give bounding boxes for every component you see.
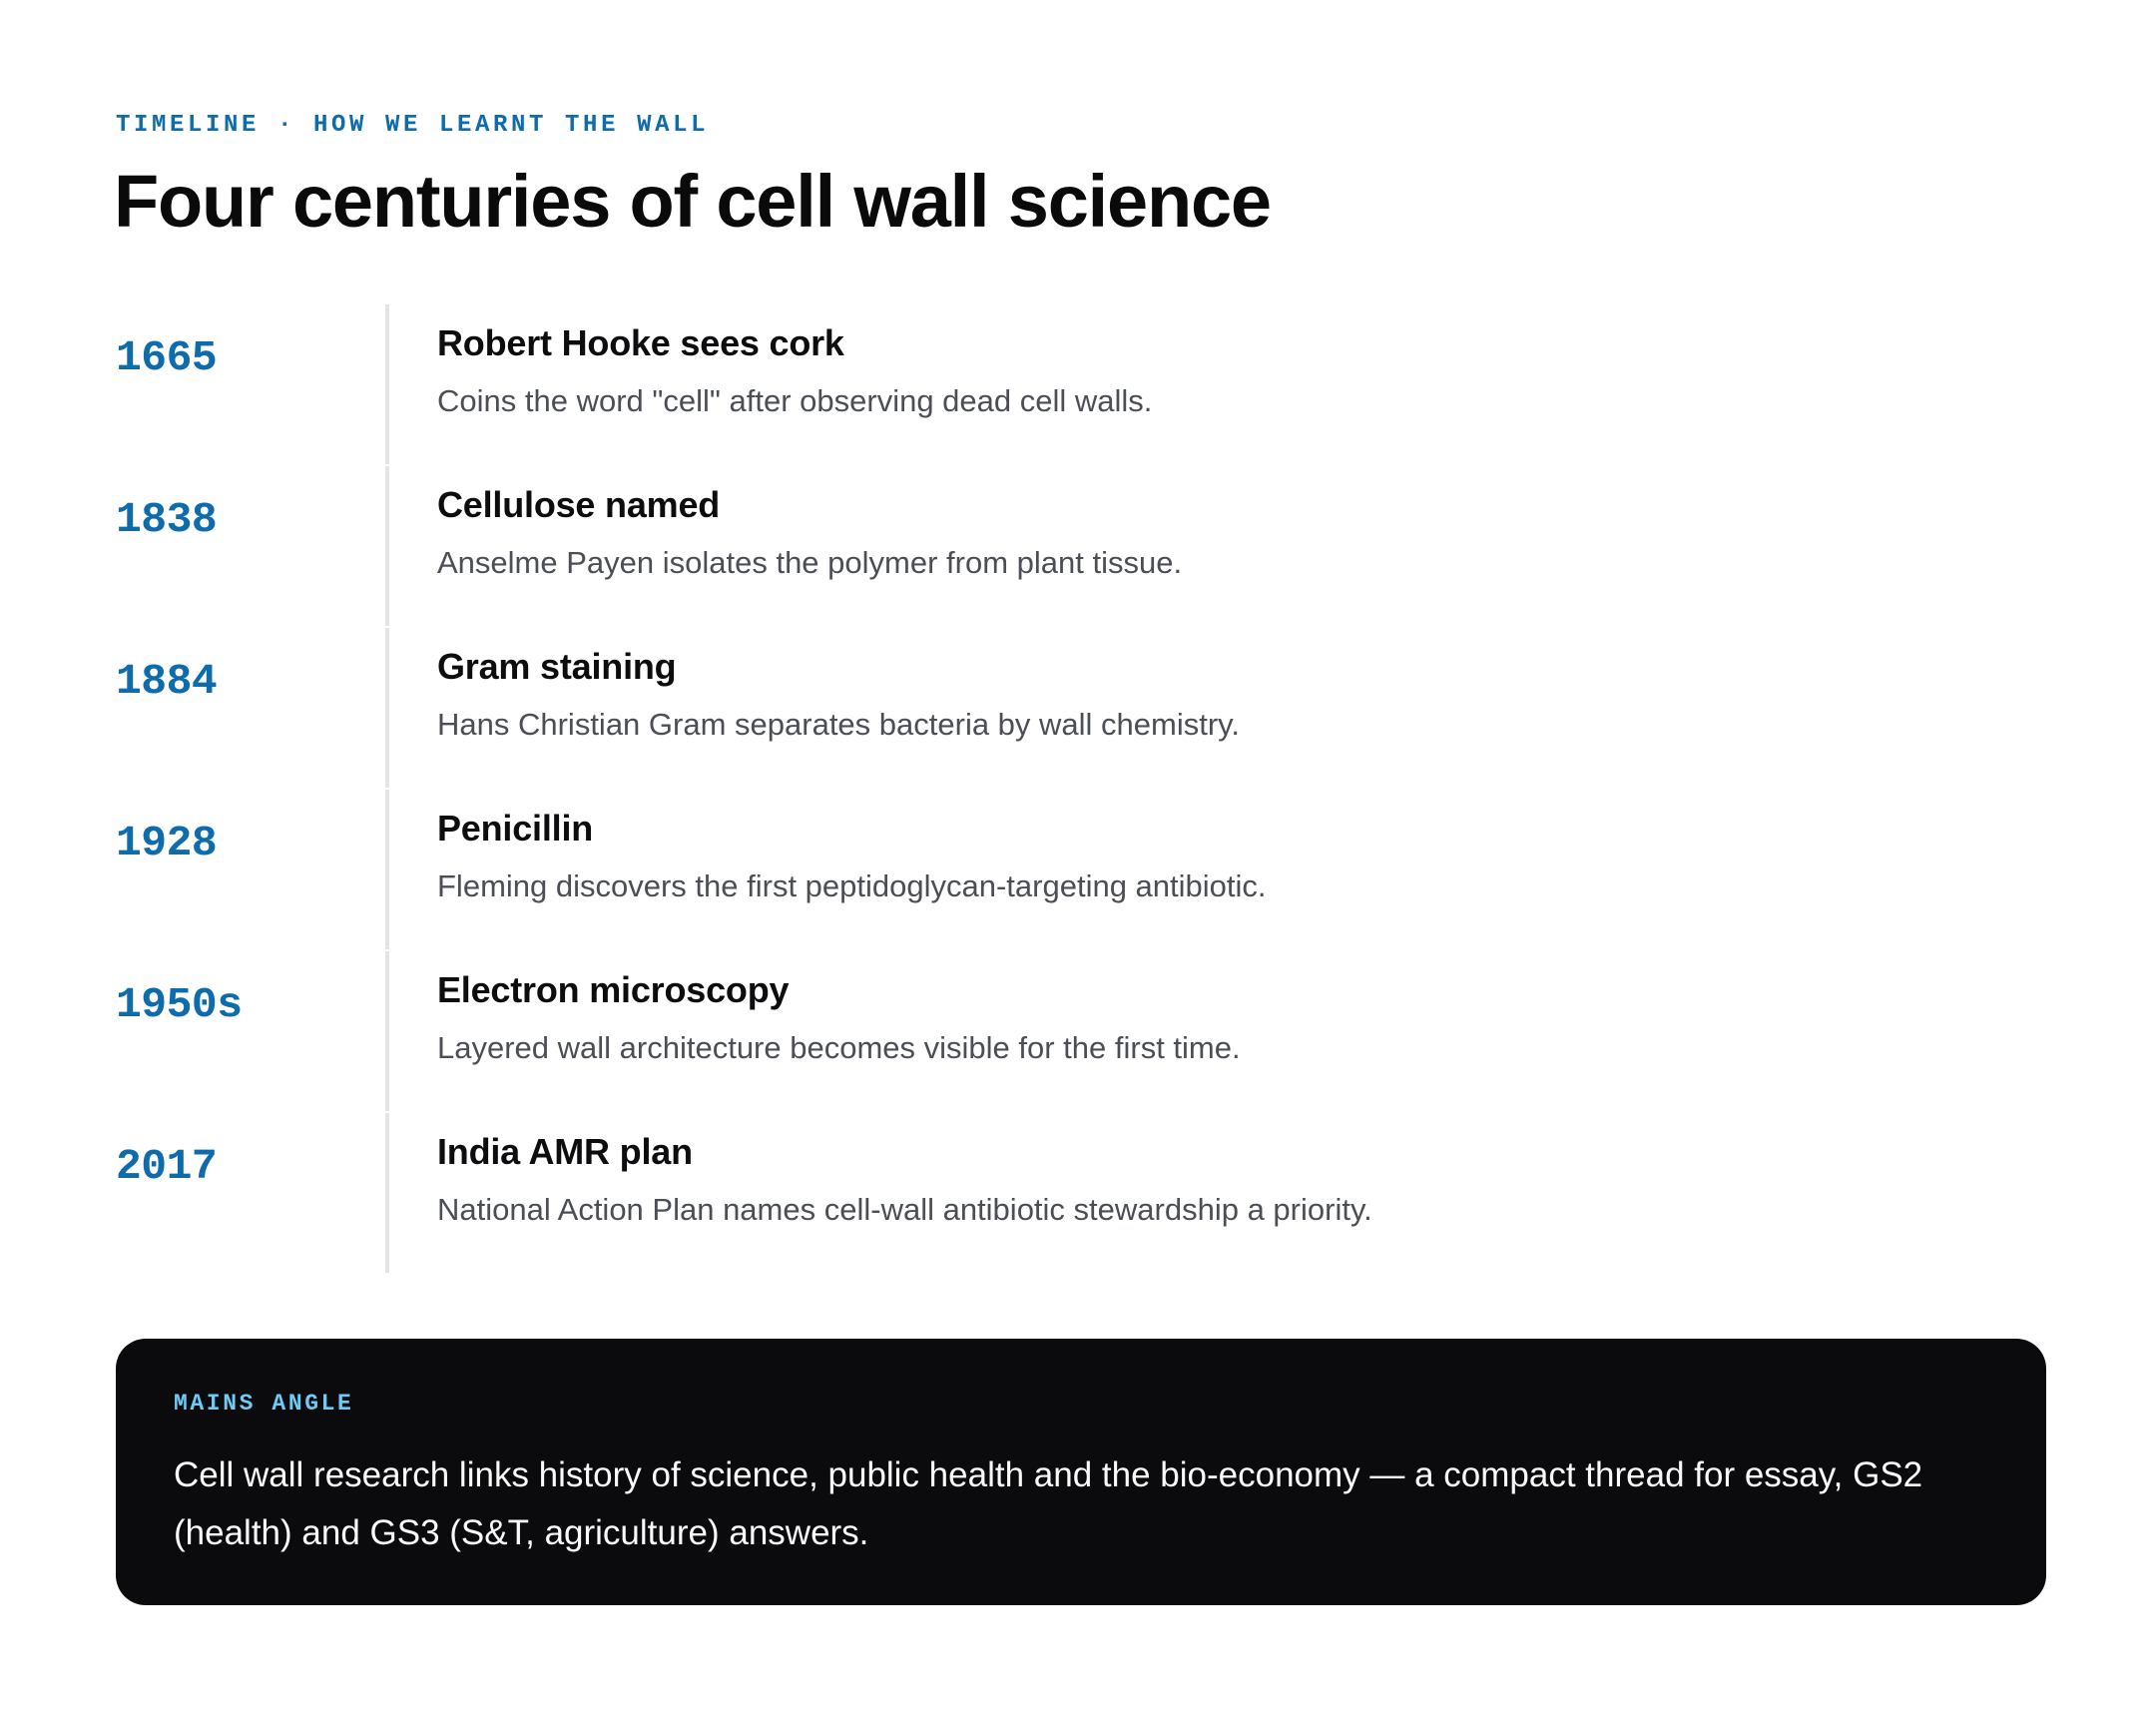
callout-label: MAINS ANGLE (174, 1391, 1988, 1417)
timeline-entry-description: Hans Christian Gram separates bacteria b… (437, 704, 2042, 746)
timeline-row: 1928 Penicillin Fleming discovers the fi… (116, 790, 2042, 951)
timeline-entry-description: Fleming discovers the first peptidoglyca… (437, 865, 2042, 907)
timeline-year: 1884 (116, 628, 385, 708)
timeline-list: 1665 Robert Hooke sees cork Coins the wo… (116, 304, 2042, 1275)
callout-body-text: Cell wall research links history of scie… (174, 1446, 1988, 1562)
timeline-entry-description: Coins the word "cell" after observing de… (437, 380, 2042, 422)
section-eyebrow: TIMELINE · HOW WE LEARNT THE WALL (116, 112, 709, 139)
page-title: Four centuries of cell wall science (114, 158, 1271, 246)
timeline-year: 1950s (116, 951, 385, 1031)
timeline-entry-description: Layered wall architecture becomes visibl… (437, 1027, 2042, 1069)
timeline-entry-title: Cellulose named (437, 482, 2042, 528)
timeline-row: 1665 Robert Hooke sees cork Coins the wo… (116, 304, 2042, 466)
timeline-entry-title: Robert Hooke sees cork (437, 320, 2042, 366)
timeline-row: 1884 Gram staining Hans Christian Gram s… (116, 628, 2042, 790)
timeline-year: 1665 (116, 304, 385, 384)
timeline-entry-title: India AMR plan (437, 1129, 2042, 1175)
timeline-entry-body: Gram staining Hans Christian Gram separa… (385, 628, 2042, 788)
timeline-entry-body: Penicillin Fleming discovers the first p… (385, 790, 2042, 949)
timeline-entry-body: Cellulose named Anselme Payen isolates t… (385, 466, 2042, 626)
timeline-page: TIMELINE · HOW WE LEARNT THE WALL Four c… (0, 0, 2156, 1719)
timeline-entry-title: Gram staining (437, 644, 2042, 690)
timeline-entry-body: Robert Hooke sees cork Coins the word "c… (385, 304, 2042, 464)
timeline-entry-title: Electron microscopy (437, 967, 2042, 1013)
mains-angle-callout: MAINS ANGLE Cell wall research links his… (116, 1339, 2046, 1605)
timeline-entry-body: India AMR plan National Action Plan name… (385, 1113, 2042, 1273)
timeline-row: 1950s Electron microscopy Layered wall a… (116, 951, 2042, 1113)
timeline-year: 1838 (116, 466, 385, 546)
timeline-entry-title: Penicillin (437, 806, 2042, 852)
timeline-year: 2017 (116, 1113, 385, 1193)
timeline-entry-body: Electron microscopy Layered wall archite… (385, 951, 2042, 1111)
timeline-row: 1838 Cellulose named Anselme Payen isola… (116, 466, 2042, 628)
timeline-entry-description: National Action Plan names cell-wall ant… (437, 1189, 2042, 1231)
timeline-entry-description: Anselme Payen isolates the polymer from … (437, 542, 2042, 584)
timeline-row: 2017 India AMR plan National Action Plan… (116, 1113, 2042, 1275)
timeline-year: 1928 (116, 790, 385, 869)
